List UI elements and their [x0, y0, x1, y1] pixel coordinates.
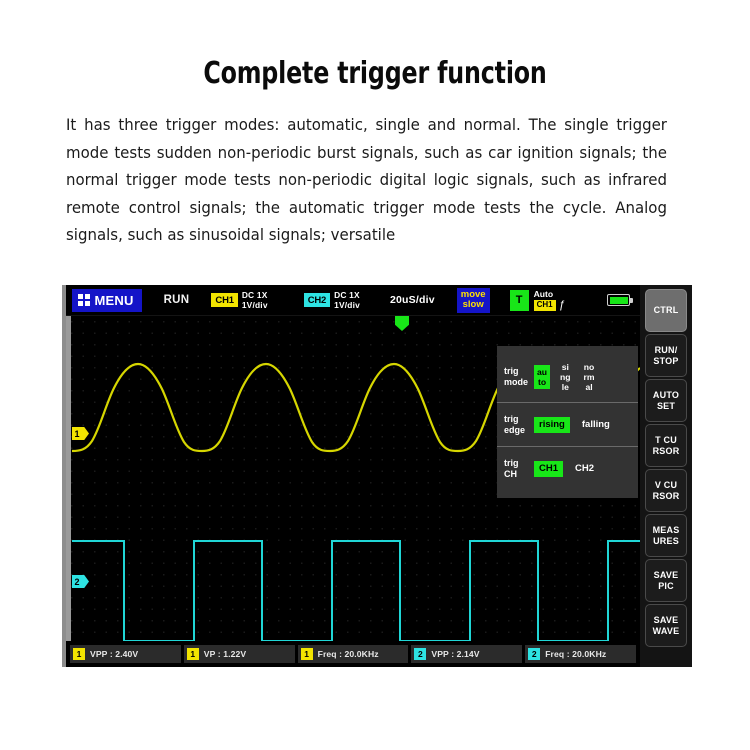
move-speed-badge[interactable]: move slow: [457, 288, 490, 313]
timebase-indicator[interactable]: 20uS/div: [390, 294, 435, 306]
measures-l2: URES: [653, 536, 679, 546]
scope-screen: MENU RUN CH1 DC 1X 1V/div CH2 DC 1X 1V/d…: [66, 285, 640, 667]
measurement-item[interactable]: 2 VPP : 2.14V: [411, 645, 522, 663]
side-button-v-cursor[interactable]: V CU RSOR: [645, 469, 687, 512]
trigger-channel-option-ch2[interactable]: CH2: [570, 461, 599, 477]
opt-normal-l1: no: [584, 362, 595, 372]
trigger-mode-label: trig mode: [504, 366, 534, 388]
trigger-channel-option-ch1[interactable]: CH1: [534, 461, 563, 477]
save-wave-l1: SAVE: [654, 615, 679, 625]
trigger-channel-label-l1: trig: [504, 458, 519, 468]
menu-button[interactable]: MENU: [72, 289, 142, 312]
run-stop-l1: RUN/: [655, 345, 678, 355]
opt-auto-l1: au: [537, 367, 547, 377]
trigger-mode-option-normal[interactable]: no rm al: [581, 360, 598, 394]
ch1-coupling: DC 1X: [242, 290, 268, 300]
opt-single-l1: si: [562, 362, 569, 372]
v-cursor-l1: V CU: [655, 480, 677, 490]
side-button-run-stop[interactable]: RUN/ STOP: [645, 334, 687, 377]
move-speed-line1: move: [461, 289, 486, 300]
page-description: It has three trigger modes: automatic, s…: [66, 112, 667, 250]
measurement-item[interactable]: 2 Freq : 20.0KHz: [525, 645, 636, 663]
side-button-save-wave[interactable]: SAVE WAVE: [645, 604, 687, 647]
measurement-value: VPP : 2.14V: [431, 649, 479, 659]
trigger-edge-options: rising falling: [534, 417, 615, 433]
trigger-edge-label-l2: edge: [504, 425, 525, 435]
menu-button-label: MENU: [95, 293, 134, 308]
trigger-edge-label: trig edge: [504, 414, 534, 436]
ch2-info: DC 1X 1V/div: [334, 290, 360, 311]
opt-single-l3: le: [562, 382, 569, 392]
measures-l1: MEAS: [653, 525, 680, 535]
save-pic-l1: SAVE: [654, 570, 679, 580]
opt-auto-l2: to: [538, 377, 546, 387]
trigger-summary: Auto CH1 ƒ: [534, 290, 565, 311]
trigger-mode-label-l1: trig: [504, 366, 519, 376]
move-speed-line2: slow: [463, 299, 484, 310]
ctrl-label: CTRL: [654, 305, 679, 315]
measurement-channel-badge: 1: [73, 648, 85, 660]
trigger-channel-label-l2: CH: [504, 469, 517, 479]
trigger-mode-option-single[interactable]: si ng le: [557, 360, 574, 394]
page-title: Complete trigger function: [45, 56, 705, 91]
ch2-coupling: DC 1X: [334, 290, 360, 300]
battery-icon: [607, 294, 630, 306]
measurement-value: VPP : 2.40V: [90, 649, 138, 659]
trigger-edge-label-l1: trig: [504, 414, 519, 424]
channel2-settings[interactable]: CH2 DC 1X 1V/div: [304, 290, 360, 311]
measurement-item[interactable]: 1 VPP : 2.40V: [70, 645, 181, 663]
ch2-badge: CH2: [304, 293, 330, 308]
opt-normal-l2: rm: [584, 372, 595, 382]
ch1-badge: CH1: [211, 293, 237, 308]
trigger-badge[interactable]: T: [510, 290, 529, 311]
opt-normal-l3: al: [585, 382, 592, 392]
auto-set-l2: SET: [657, 401, 675, 411]
trigger-edge-option-rising[interactable]: rising: [534, 417, 570, 433]
measurement-channel-badge: 2: [414, 648, 426, 660]
side-button-measures[interactable]: MEAS URES: [645, 514, 687, 557]
rising-edge-icon: ƒ: [559, 301, 565, 310]
side-button-t-cursor[interactable]: T CU RSOR: [645, 424, 687, 467]
trigger-source-badge: CH1: [534, 300, 556, 311]
ch2-square-trace: [72, 541, 640, 641]
trigger-settings-panel: trig mode au to si ng le: [497, 346, 638, 498]
measurement-item[interactable]: 1 Freq : 20.0KHz: [298, 645, 409, 663]
trigger-mode-options: au to si ng le no rm al: [534, 360, 598, 394]
side-button-auto-set[interactable]: AUTO SET: [645, 379, 687, 422]
trigger-mode-text: Auto: [534, 290, 565, 299]
v-cursor-l2: RSOR: [653, 491, 680, 501]
measurement-value: Freq : 20.0KHz: [318, 649, 379, 659]
trigger-mode-option-auto[interactable]: au to: [534, 365, 550, 389]
opt-single-l2: ng: [560, 372, 571, 382]
grid-menu-icon: [78, 294, 90, 306]
trigger-edge-row: trig edge rising falling: [497, 402, 638, 446]
trigger-source-row: CH1 ƒ: [534, 300, 565, 311]
measurement-item[interactable]: 1 VP : 1.22V: [184, 645, 295, 663]
run-state-indicator: RUN: [164, 294, 190, 306]
auto-set-l1: AUTO: [653, 390, 679, 400]
trigger-mode-row: trig mode au to si ng le: [497, 352, 638, 402]
trigger-edge-option-falling[interactable]: falling: [577, 417, 615, 433]
waveform-plot[interactable]: 1 2 trig mode au to: [66, 316, 640, 641]
ch1-scale: 1V/div: [242, 300, 268, 310]
save-pic-l2: PIC: [658, 581, 674, 591]
trigger-mode-label-l2: mode: [504, 377, 528, 387]
ch2-scale: 1V/div: [334, 300, 360, 310]
t-cursor-l2: RSOR: [653, 446, 680, 456]
trigger-channel-label: trig CH: [504, 458, 534, 480]
t-cursor-l1: T CU: [655, 435, 677, 445]
side-button-column: CTRL RUN/ STOP AUTO SET T CU RSOR V CU R…: [640, 285, 692, 667]
measurement-bar: 1 VPP : 2.40V 1 VP : 1.22V 1 Freq : 20.0…: [66, 641, 640, 667]
channel1-settings[interactable]: CH1 DC 1X 1V/div: [211, 290, 267, 311]
run-stop-l2: STOP: [653, 356, 678, 366]
save-wave-l2: WAVE: [653, 626, 680, 636]
measurement-channel-badge: 1: [301, 648, 313, 660]
side-button-ctrl[interactable]: CTRL: [645, 289, 687, 332]
status-bar: MENU RUN CH1 DC 1X 1V/div CH2 DC 1X 1V/d…: [66, 285, 640, 316]
measurement-value: VP : 1.22V: [204, 649, 246, 659]
measurement-channel-badge: 1: [187, 648, 199, 660]
measurement-channel-badge: 2: [528, 648, 540, 660]
measurement-value: Freq : 20.0KHz: [545, 649, 606, 659]
promo-page: Complete trigger function It has three t…: [0, 0, 750, 750]
trigger-channel-row: trig CH CH1 CH2: [497, 446, 638, 490]
ch1-info: DC 1X 1V/div: [242, 290, 268, 311]
side-button-save-pic[interactable]: SAVE PIC: [645, 559, 687, 602]
trigger-channel-options: CH1 CH2: [534, 461, 599, 477]
oscilloscope-device: MENU RUN CH1 DC 1X 1V/div CH2 DC 1X 1V/d…: [62, 285, 692, 667]
